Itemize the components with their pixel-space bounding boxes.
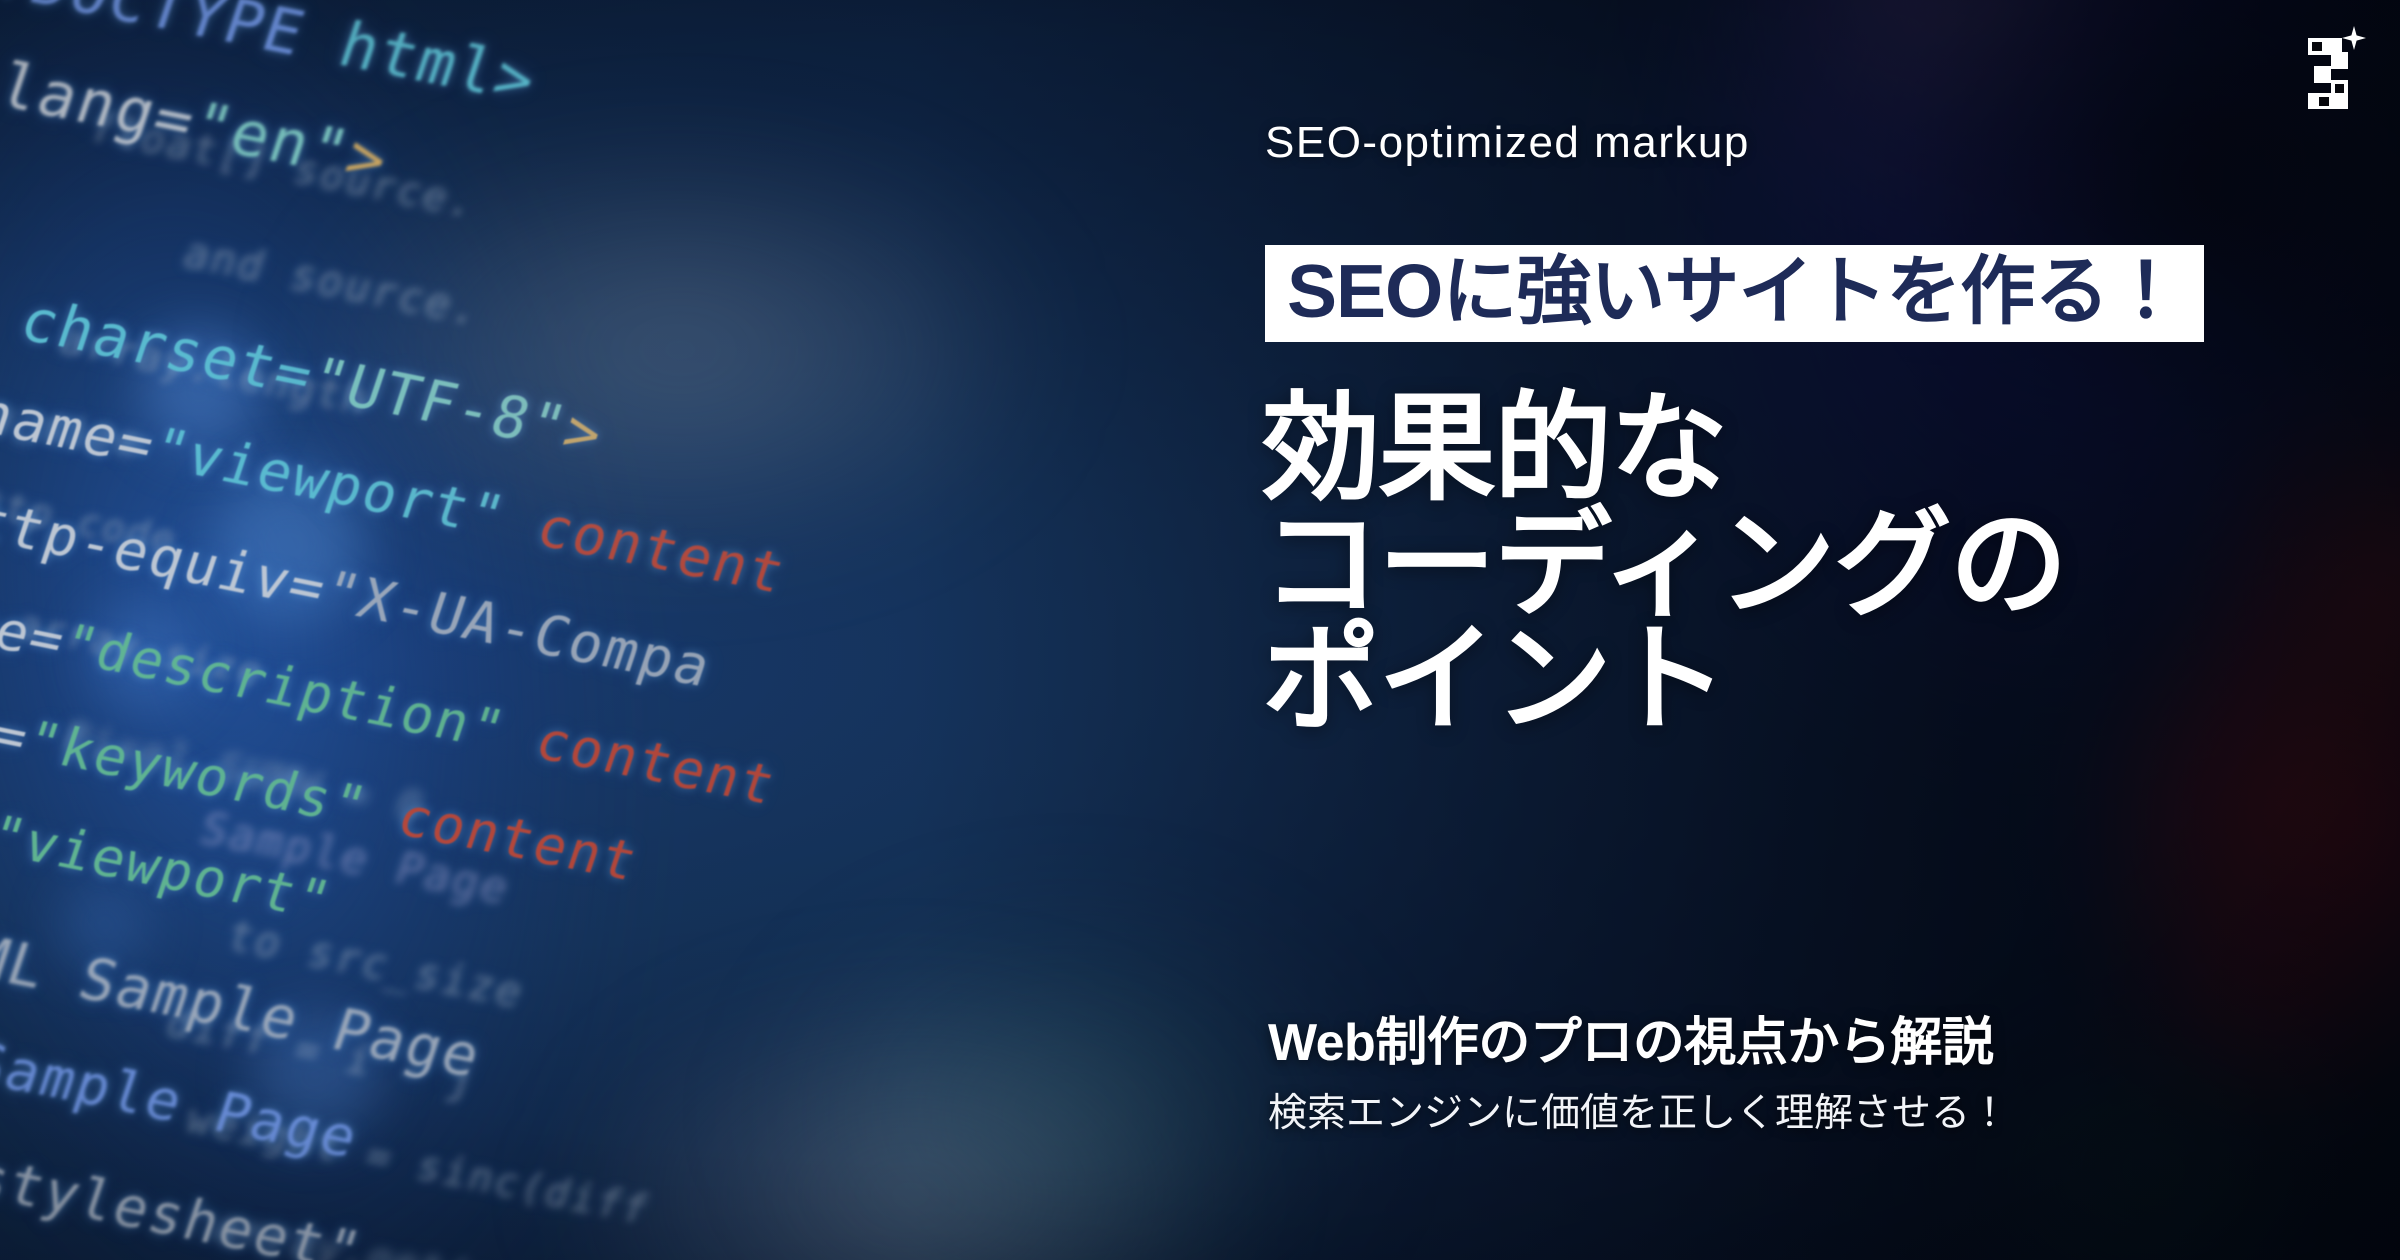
headline-line-3: ポイント xyxy=(1262,623,2066,739)
main-headline: 効果的な コーディングの ポイント xyxy=(1262,392,2066,739)
sparkle-icon xyxy=(2342,26,2366,50)
highlight-headline: SEOに強いサイトを作る！ xyxy=(1287,251,2182,332)
subheadline-note: 検索エンジンに価値を正しく理解させる！ xyxy=(1268,1082,2009,1138)
headline-line-2: コーディングの xyxy=(1262,508,2066,624)
pixel-three-logo[interactable] xyxy=(2286,14,2382,110)
highlight-bar: SEOに強いサイトを作る！ xyxy=(1265,245,2204,342)
hero-text-block: SEO-optimized markup SEOに強いサイトを作る！ 効果的な … xyxy=(1265,0,2400,1260)
subheadline-lead: Web制作のプロの視点から解説 xyxy=(1268,1000,1993,1075)
headline-line-1: 効果的な xyxy=(1262,392,2066,508)
eyebrow-label: SEO-optimized markup xyxy=(1265,118,1750,168)
hero-banner: float[] source. and source. array.length… xyxy=(0,0,2400,1260)
